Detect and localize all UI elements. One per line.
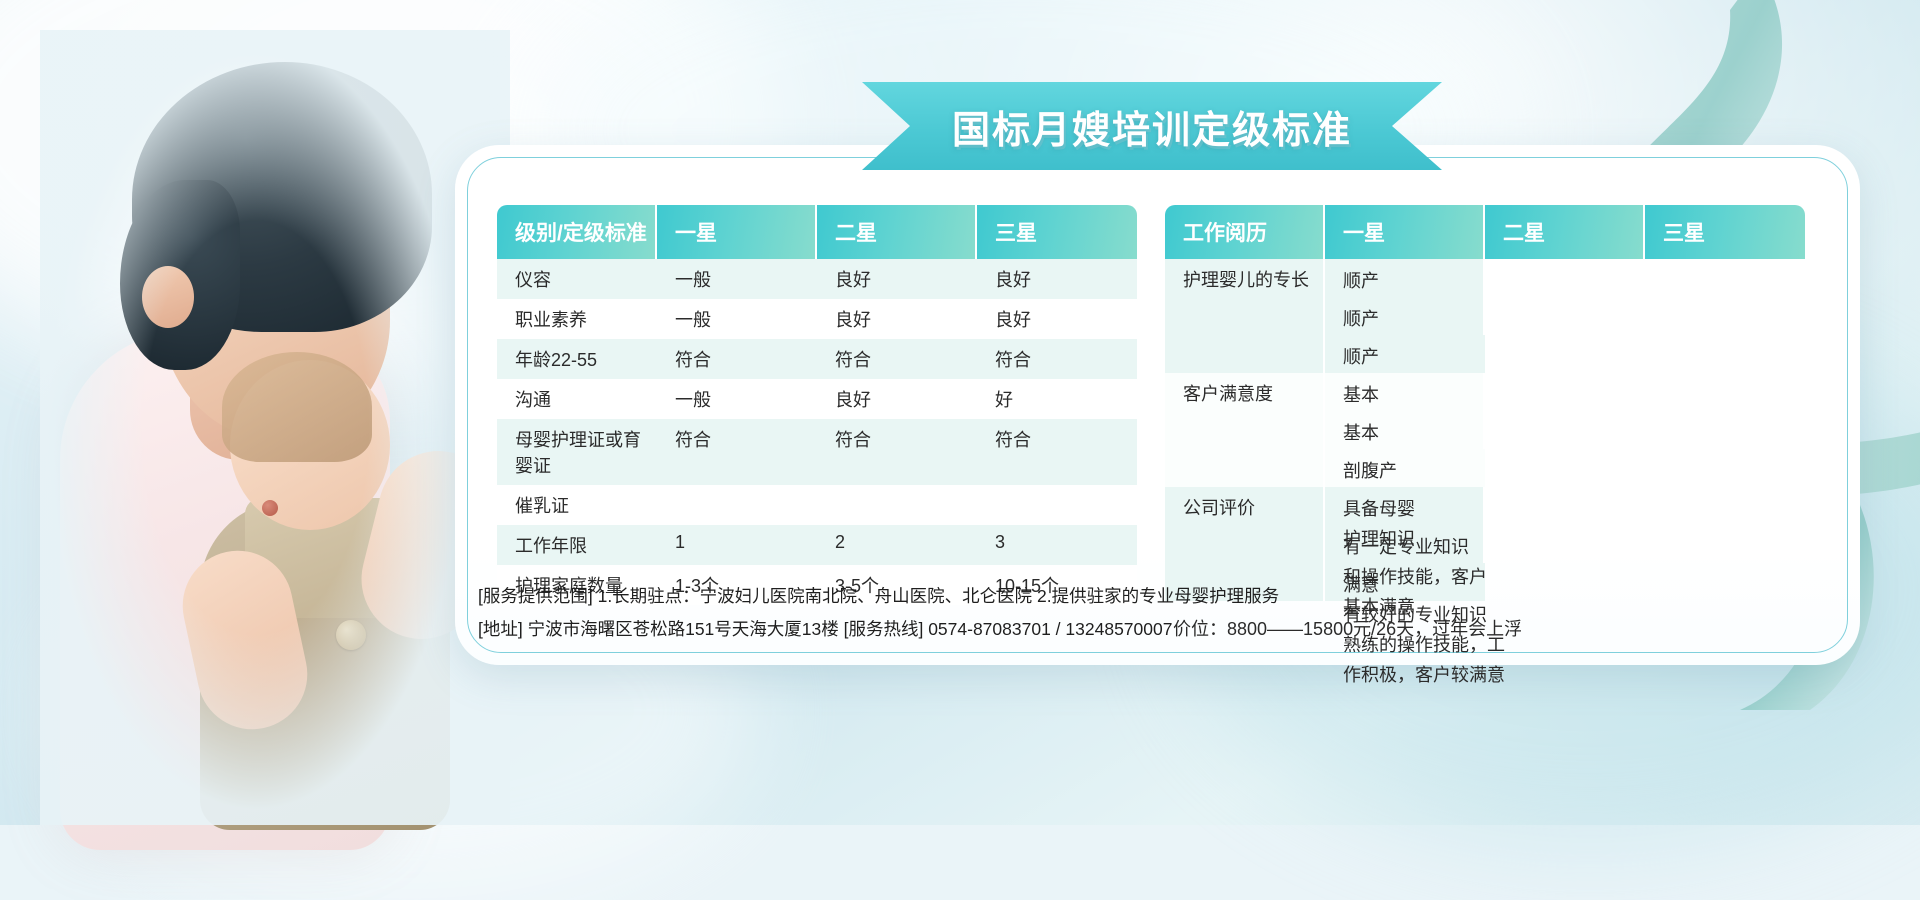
cell-two-star: 基本 [1325, 411, 1485, 449]
cell-one-star: 1 [657, 525, 817, 565]
cell-three-star: 符合 [977, 339, 1137, 379]
photo-pin [262, 500, 278, 516]
table-row: 仪容 一般 良好 良好 [497, 259, 1137, 299]
row-label: 沟通 [497, 379, 657, 419]
table-header-row: 级别/定级标准 一星 二星 三星 [497, 205, 1137, 259]
caregiver-photo [40, 30, 510, 825]
cell-two-star: 顺产 [1325, 297, 1485, 335]
cell-two-star: 符合 [817, 339, 977, 379]
header-two-star: 二星 [1485, 205, 1645, 259]
cell-one-star [657, 485, 817, 525]
cell-three-star: 良好 [977, 259, 1137, 299]
right-table-body: 护理婴儿的专长 顺产 顺产 顺产 客户满意度 基本 基本 剖腹产 公司评价 具备… [1165, 259, 1805, 601]
cell-one-star: 符合 [657, 339, 817, 379]
cell-two-star [817, 485, 977, 525]
row-label: 护理婴儿的专长 [1165, 259, 1325, 373]
table-row: 催乳证 [497, 485, 1137, 525]
cell-one-star: 一般 [657, 259, 817, 299]
banner: 国标月嫂培训定级标准 [862, 82, 1442, 170]
cell-two-star: 符合 [817, 419, 977, 485]
cell-three-star: 好 [977, 379, 1137, 419]
cell-two-star: 良好 [817, 259, 977, 299]
grading-standard-table: 级别/定级标准 一星 二星 三星 仪容 一般 良好 良好 职业素养 一般 良好 [497, 205, 1137, 641]
row-label: 年龄22-55 [497, 339, 657, 379]
row-label: 催乳证 [497, 485, 657, 525]
address-hotline-line: [地址] 宁波市海曙区苍松路151号天海大厦13楼 [服务热线] 0574-87… [478, 613, 1678, 646]
table-row: 护理婴儿的专长 顺产 顺产 顺产 [1165, 259, 1805, 373]
header-two-star: 二星 [817, 205, 977, 259]
photo-button [336, 620, 366, 650]
table-row: 工作年限 1 2 3 [497, 525, 1137, 565]
cell-two-star: 良好 [817, 299, 977, 339]
cell-one-star: 符合 [657, 419, 817, 485]
left-table-body: 仪容 一般 良好 良好 职业素养 一般 良好 良好 年龄22-55 符合 符合 … [497, 259, 1137, 605]
header-three-star: 三星 [1645, 205, 1805, 259]
cell-three-star: 剖腹产 [1325, 449, 1485, 487]
cell-two-star: 良好 [817, 379, 977, 419]
row-label: 职业素养 [497, 299, 657, 339]
photo-baby-hair [222, 352, 372, 462]
table-header-row: 工作阅历 一星 二星 三星 [1165, 205, 1805, 259]
row-label: 工作年限 [497, 525, 657, 565]
table-row: 年龄22-55 符合 符合 符合 [497, 339, 1137, 379]
header-one-star: 一星 [1325, 205, 1485, 259]
cell-one-star: 一般 [657, 299, 817, 339]
footer: [服务提供范围] 1.长期驻点：宁波妇儿医院南北院、舟山医院、北仑医院 2.提供… [478, 580, 1678, 646]
header-experience: 工作阅历 [1165, 205, 1325, 259]
cell-three-star: 良好 [977, 299, 1137, 339]
table-row: 母婴护理证或育婴证 符合 符合 符合 [497, 419, 1137, 485]
header-criteria: 级别/定级标准 [497, 205, 657, 259]
cell-three-star: 符合 [977, 419, 1137, 485]
banner-title: 国标月嫂培训定级标准 [862, 82, 1442, 170]
row-label: 客户满意度 [1165, 373, 1325, 487]
table-row: 职业素养 一般 良好 良好 [497, 299, 1137, 339]
header-three-star: 三星 [977, 205, 1137, 259]
service-scope-line: [服务提供范围] 1.长期驻点：宁波妇儿医院南北院、舟山医院、北仑医院 2.提供… [478, 580, 1678, 613]
tables-container: 级别/定级标准 一星 二星 三星 仪容 一般 良好 良好 职业素养 一般 良好 [497, 205, 1822, 641]
header-one-star: 一星 [657, 205, 817, 259]
table-row: 客户满意度 基本 基本 剖腹产 [1165, 373, 1805, 487]
cell-one-star: 具备母婴护理知识 [1325, 487, 1485, 525]
cell-two-star: 2 [817, 525, 977, 565]
cell-three-star: 3 [977, 525, 1137, 565]
table-row: 沟通 一般 良好 好 [497, 379, 1137, 419]
cell-three-star [977, 485, 1137, 525]
cell-three-star: 顺产 [1325, 335, 1485, 373]
row-label: 仪容 [497, 259, 657, 299]
cell-one-star: 基本 [1325, 373, 1485, 411]
cell-one-star: 一般 [657, 379, 817, 419]
cell-one-star: 顺产 [1325, 259, 1485, 297]
row-label: 母婴护理证或育婴证 [497, 419, 657, 485]
photo-ear [142, 266, 194, 328]
work-experience-table: 工作阅历 一星 二星 三星 护理婴儿的专长 顺产 顺产 顺产 客户满意度 基本 … [1165, 205, 1805, 641]
